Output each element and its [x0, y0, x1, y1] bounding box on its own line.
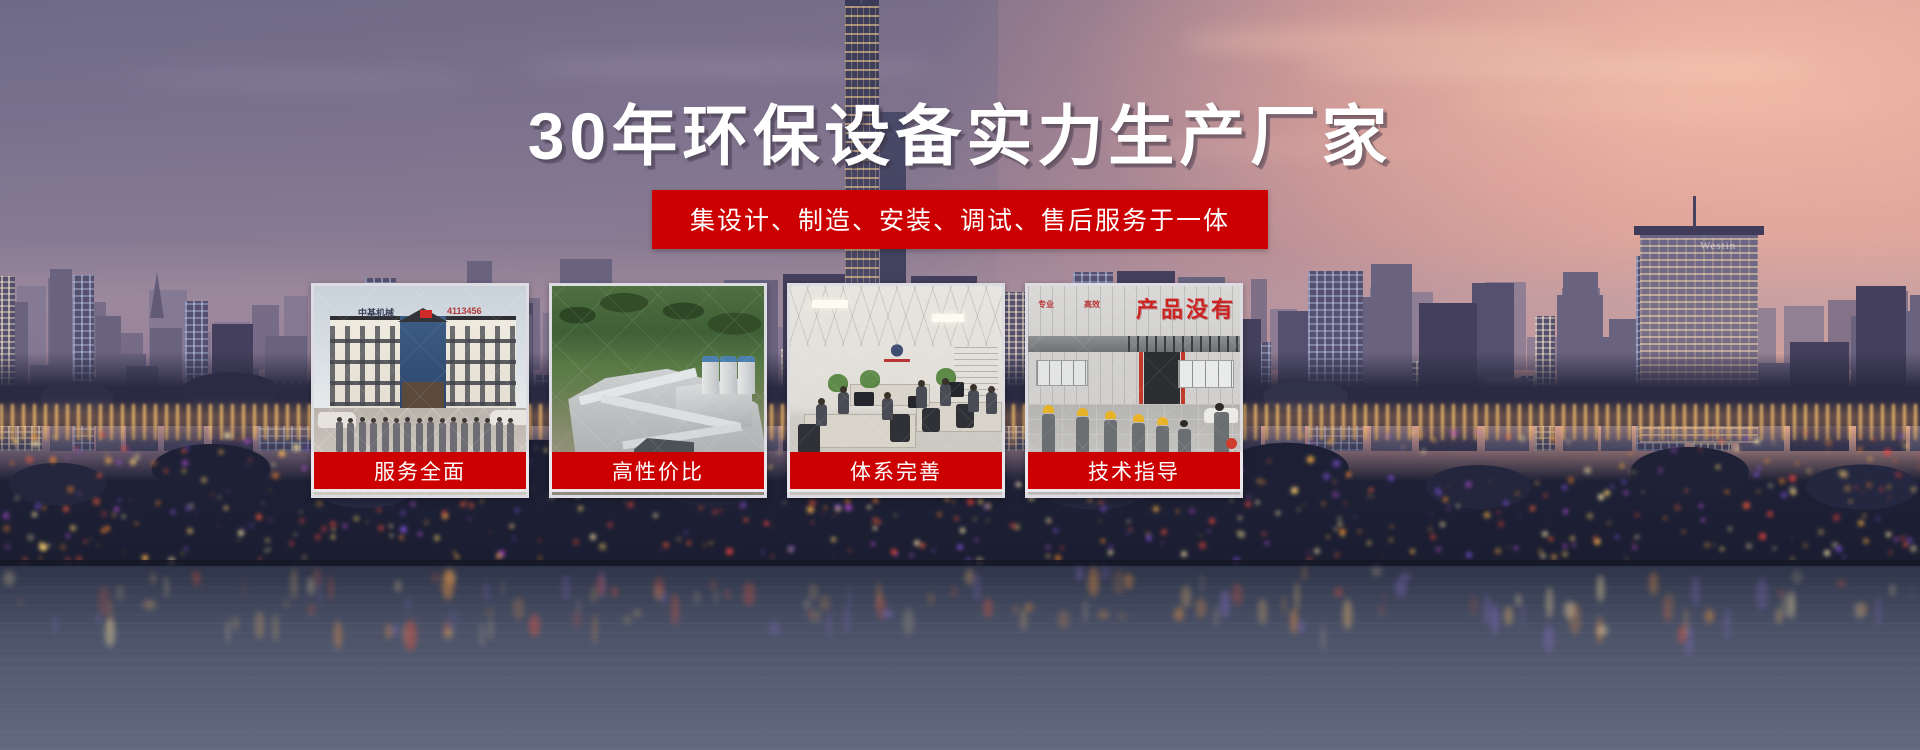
- tv-tower-icon: [150, 272, 164, 318]
- card-caption-1[interactable]: 服务全面: [311, 452, 529, 492]
- cloud: [120, 70, 480, 88]
- westin-mast: [1693, 196, 1696, 228]
- flag-icon: [420, 310, 432, 318]
- feature-card-captions: 服务全面 高性价比 体系完善 技术指导: [311, 452, 1563, 492]
- card-caption-4[interactable]: 技术指导: [1025, 452, 1243, 492]
- cloud: [1300, 58, 1820, 78]
- company-sign-text: 中基机械: [358, 306, 394, 319]
- banner-headline: 30年环保设备实力生产厂家: [0, 103, 1920, 169]
- banner-subtitle-bar: 集设计、制造、安装、调试、售后服务于一体: [652, 190, 1268, 249]
- factory-slogan-1: 专业: [1038, 300, 1054, 310]
- cloud: [1180, 28, 1600, 54]
- westin-sign-text: Westin: [1700, 240, 1736, 252]
- wall-logo-icon: [880, 340, 914, 366]
- hero-banner: Westin 30年环保设备实力生产厂家 集设计、制造、安装、调试、售后服务于一…: [0, 0, 1920, 750]
- card-caption-2[interactable]: 高性价比: [549, 452, 767, 492]
- westin-roof: [1634, 226, 1764, 235]
- company-phone-text: 4113456: [447, 306, 482, 316]
- card-caption-3[interactable]: 体系完善: [787, 452, 1005, 492]
- factory-wall-banner-text: 产品没有: [1136, 292, 1236, 324]
- factory-slogan-2: 高效: [1084, 300, 1100, 310]
- water-sheen: [0, 566, 1920, 750]
